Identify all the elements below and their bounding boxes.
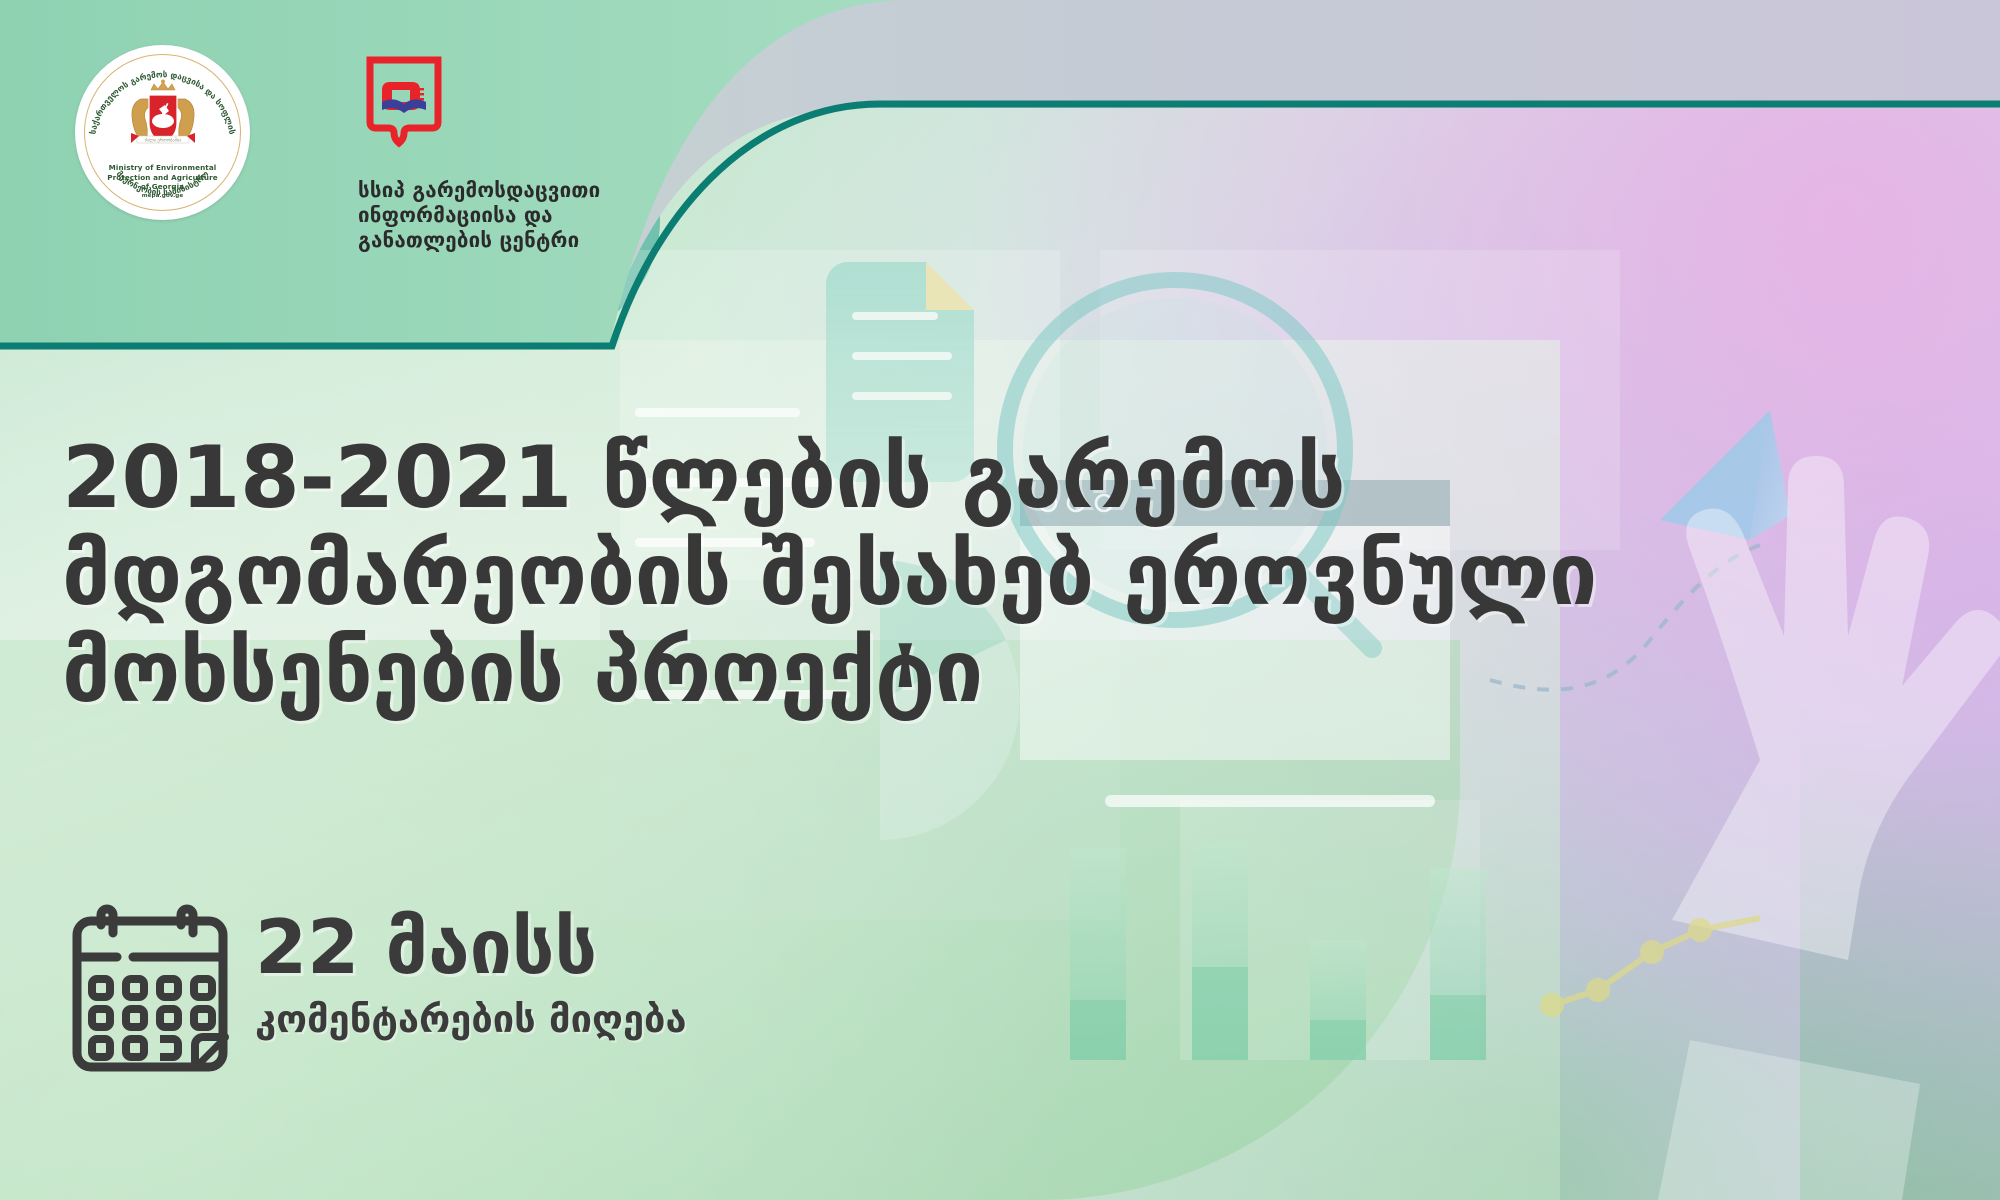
georgia-coat-of-arms-icon: ძალა ერთობაშია: [121, 79, 205, 153]
seal-subtitle-line-2: Protection and Agriculture: [75, 173, 250, 183]
seal-subtitle: Ministry of Environmental Protection and…: [75, 163, 250, 201]
page-title-line-3: მოხსენების პროექტი: [62, 624, 1892, 721]
banner-root: საქართველოს გარემოს დაცვისა და სოფლის მე…: [0, 0, 2000, 1200]
date-caption: კომენტარების მიღება: [255, 995, 1155, 1043]
page-title: 2018-2021 წლების გარემოს მდგომარეობის შე…: [62, 430, 1892, 721]
seal-subtitle-line-1: Ministry of Environmental: [75, 163, 250, 173]
eiec-name: სსიპ გარემოსდაცვითი ინფორმაციისა და განა…: [358, 178, 668, 253]
eiec-book-logo-icon: [365, 55, 443, 155]
eiec-name-line-3: განათლების ცენტრი: [358, 228, 668, 253]
eiec-name-line-1: სსიპ გარემოსდაცვითი: [358, 178, 668, 203]
page-title-line-1: 2018-2021 წლების გარემოს: [62, 430, 1892, 527]
page-title-line-2: მდგომარეობის შესახებ ეროვნული: [62, 527, 1892, 624]
calendar-icon: [55, 895, 245, 1085]
eiec-name-line-2: ინფორმაციისა და: [358, 203, 668, 228]
seal-url: mepa.gov.ge: [75, 192, 250, 202]
svg-text:ძალა ერთობაშია: ძალა ერთობაშია: [144, 137, 182, 144]
seal-subtitle-line-3: of Georgia: [75, 182, 250, 192]
date-value: 22 მაისს: [255, 905, 1155, 989]
ministry-seal: საქართველოს გარემოს დაცვისა და სოფლის მე…: [75, 45, 250, 220]
date-block: 22 მაისს კომენტარების მიღება: [255, 905, 1155, 1043]
